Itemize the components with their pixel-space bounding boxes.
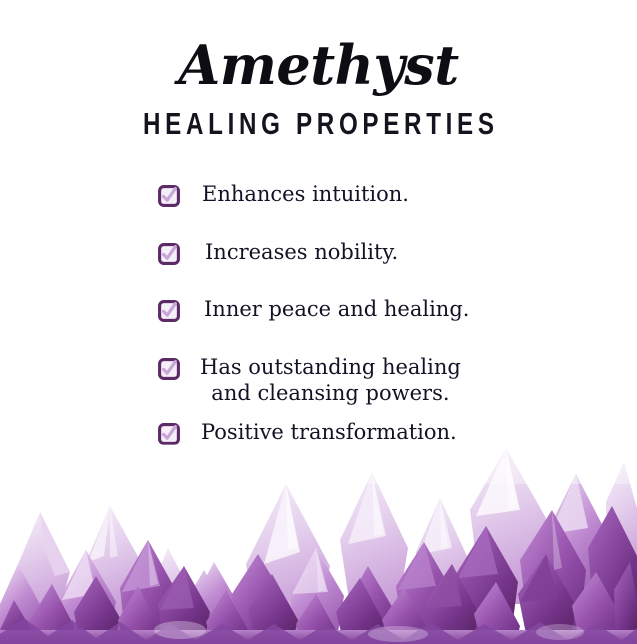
- list-item[interactable]: Positive transformation.: [158, 419, 578, 447]
- list-item[interactable]: Has outstanding healing and cleansing po…: [158, 354, 578, 407]
- checkbox-checked-icon[interactable]: [158, 300, 180, 322]
- checkbox-checked-icon[interactable]: [158, 185, 180, 207]
- list-item-label: Increases nobility.: [205, 239, 398, 267]
- card-header: Amethyst HEALING PROPERTIES: [0, 0, 637, 139]
- checkbox-checked-icon[interactable]: [158, 358, 180, 380]
- list-item-label: Positive transformation.: [201, 419, 457, 447]
- list-item-label: Enhances intuition.: [202, 181, 409, 209]
- page-title: Amethyst: [0, 0, 637, 92]
- page-subtitle: HEALING PROPERTIES: [70, 92, 567, 139]
- list-item[interactable]: Inner peace and healing.: [158, 296, 578, 324]
- healing-properties-list: Enhances intuition. Increases nobility. …: [158, 181, 578, 446]
- list-item-label: Has outstanding healing and cleansing po…: [200, 354, 461, 407]
- list-item-label: Inner peace and healing.: [204, 296, 469, 324]
- amethyst-healing-properties-card: Amethyst HEALING PROPERTIES Enhances int…: [0, 0, 637, 644]
- list-item[interactable]: Enhances intuition.: [158, 181, 578, 209]
- checkbox-checked-icon[interactable]: [158, 423, 180, 445]
- amethyst-crystal-cluster-image: [0, 444, 637, 644]
- checkbox-checked-icon[interactable]: [158, 243, 180, 265]
- list-item[interactable]: Increases nobility.: [158, 239, 578, 267]
